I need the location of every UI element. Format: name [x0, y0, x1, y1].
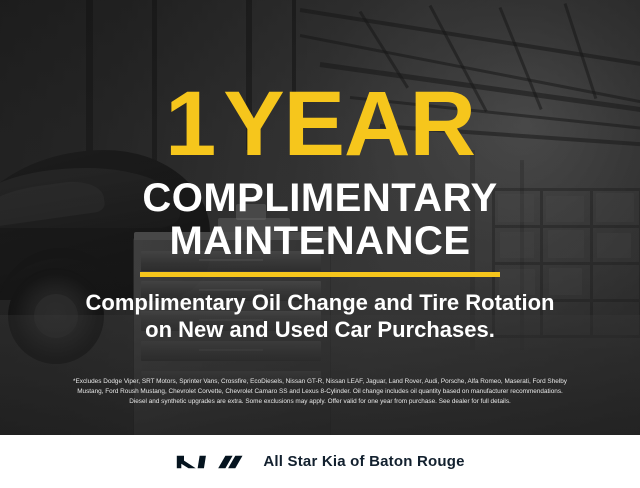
disclaimer-line-2: Mustang, Ford Roush Mustang, Chevrolet C…	[12, 387, 628, 397]
subheading-line-1: Complimentary Oil Change and Tire Rotati…	[0, 289, 640, 316]
disclaimer-text: *Excludes Dodge Viper, SRT Motors, Sprin…	[12, 377, 628, 406]
headline-one-year: 1YEAR	[0, 78, 640, 170]
disclaimer-line-3: Diesel and synthetic upgrades are extra.…	[12, 397, 628, 407]
disclaimer-line-1: *Excludes Dodge Viper, SRT Motors, Sprin…	[12, 377, 628, 387]
headline-maintenance: MAINTENANCE	[0, 219, 640, 263]
headline-complimentary: COMPLIMENTARY	[0, 176, 640, 220]
subheading: Complimentary Oil Change and Tire Rotati…	[0, 289, 640, 343]
promotional-banner: 1YEAR COMPLIMENTARY MAINTENANCE Complime…	[0, 0, 640, 488]
banner-content: 1YEAR COMPLIMENTARY MAINTENANCE Complime…	[0, 0, 640, 435]
footer-bar: All Star Kia of Baton Rouge	[0, 435, 640, 488]
kia-wordmark-logo	[175, 452, 247, 472]
headline-year-word: YEAR	[223, 73, 475, 175]
dealer-name: All Star Kia of Baton Rouge	[263, 453, 464, 470]
subheading-line-2: on New and Used Car Purchases.	[0, 316, 640, 343]
headline-number: 1	[165, 73, 215, 175]
yellow-divider-rule	[140, 272, 500, 277]
